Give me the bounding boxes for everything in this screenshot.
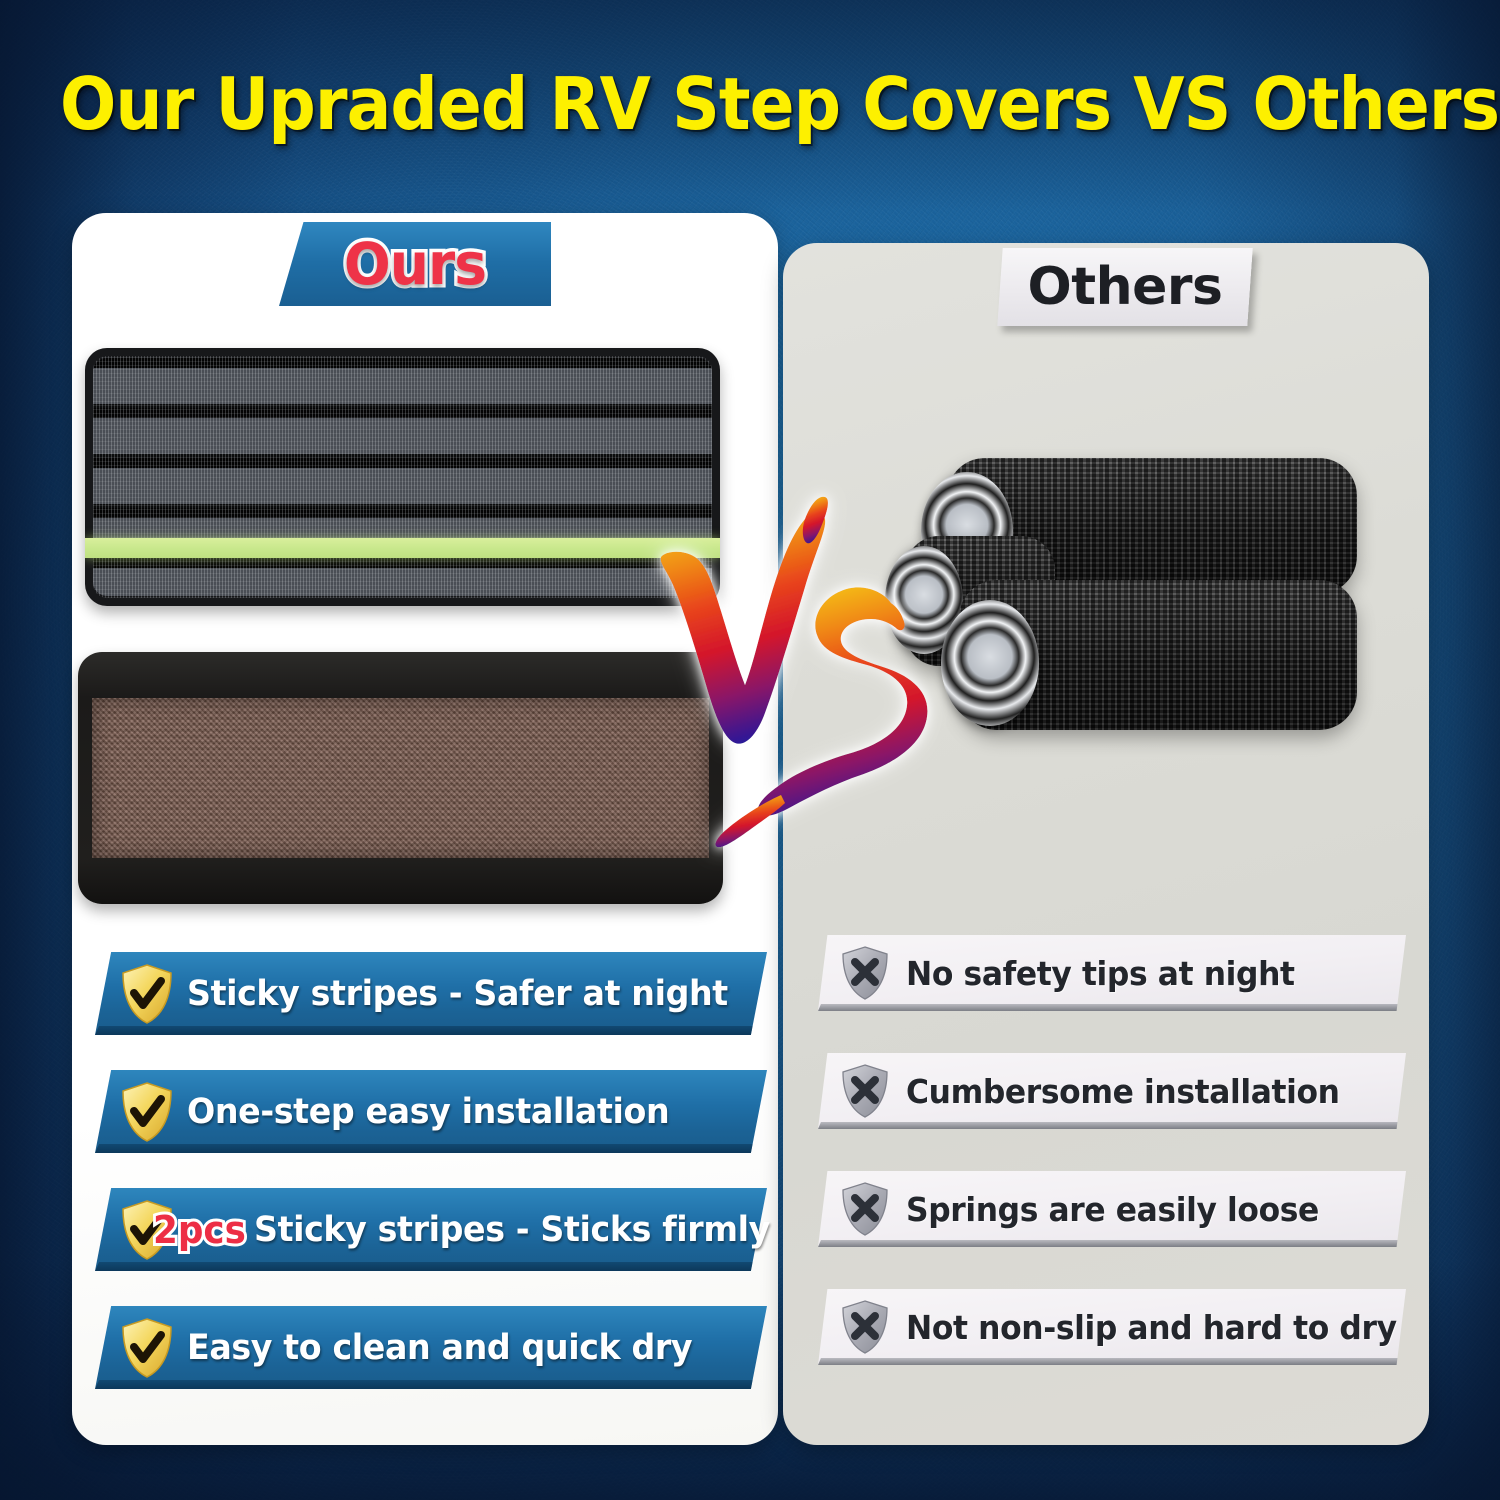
brown-cover-surface — [92, 698, 709, 858]
others-feature-label: No safety tips at night — [906, 954, 1295, 993]
ours-feature-item[interactable]: Easy to clean and quick dry — [95, 1306, 767, 1389]
ours-feature-label: Sticky stripes - Safer at night — [187, 974, 728, 1014]
others-feature-item[interactable]: No safety tips at night — [818, 935, 1406, 1011]
ours-feature-label: Sticky stripes - Sticks firmly — [254, 1210, 770, 1250]
ours-tab: Ours — [279, 222, 551, 306]
others-feature-item[interactable]: Springs are easily loose — [818, 1171, 1406, 1247]
others-feature-item[interactable]: Cumbersome installation — [818, 1053, 1406, 1129]
product-image-gray-step-cover — [85, 348, 720, 606]
ours-tab-label: Ours — [286, 222, 544, 306]
page-title: Our Upraded RV Step Covers VS Others — [60, 62, 1440, 146]
shield-x-icon — [840, 1063, 890, 1119]
ours-feature-item[interactable]: Sticky stripes - Safer at night — [95, 952, 767, 1035]
others-feature-item[interactable]: Not non-slip and hard to dry — [818, 1289, 1406, 1365]
shield-check-icon — [119, 1081, 175, 1143]
gray-cover-texture — [93, 356, 712, 598]
roll-end-front — [941, 600, 1039, 726]
others-tab: Others — [997, 248, 1252, 326]
others-tab-label: Others — [1000, 248, 1250, 326]
others-feature-label: Not non-slip and hard to dry — [906, 1308, 1397, 1347]
product-image-brown-step-cover — [78, 652, 723, 904]
shield-check-icon — [119, 963, 175, 1025]
others-feature-label: Springs are easily loose — [906, 1190, 1319, 1229]
vs-graphic — [655, 495, 945, 865]
others-feature-label: Cumbersome installation — [906, 1072, 1340, 1111]
ours-feature-label: One-step easy installation — [187, 1092, 669, 1132]
ours-feature-label: Easy to clean and quick dry — [187, 1328, 692, 1368]
glow-in-dark-stripe — [85, 538, 720, 558]
shield-x-icon — [840, 945, 890, 1001]
ours-feature-item[interactable]: One-step easy installation — [95, 1070, 767, 1153]
product-image-rolled-covers — [895, 440, 1365, 820]
quantity-badge: 2pcs — [153, 1208, 246, 1252]
shield-x-icon — [840, 1181, 890, 1237]
ours-feature-item[interactable]: 2pcs Sticky stripes - Sticks firmly — [95, 1188, 767, 1271]
shield-check-icon — [119, 1317, 175, 1379]
shield-x-icon — [840, 1299, 890, 1355]
